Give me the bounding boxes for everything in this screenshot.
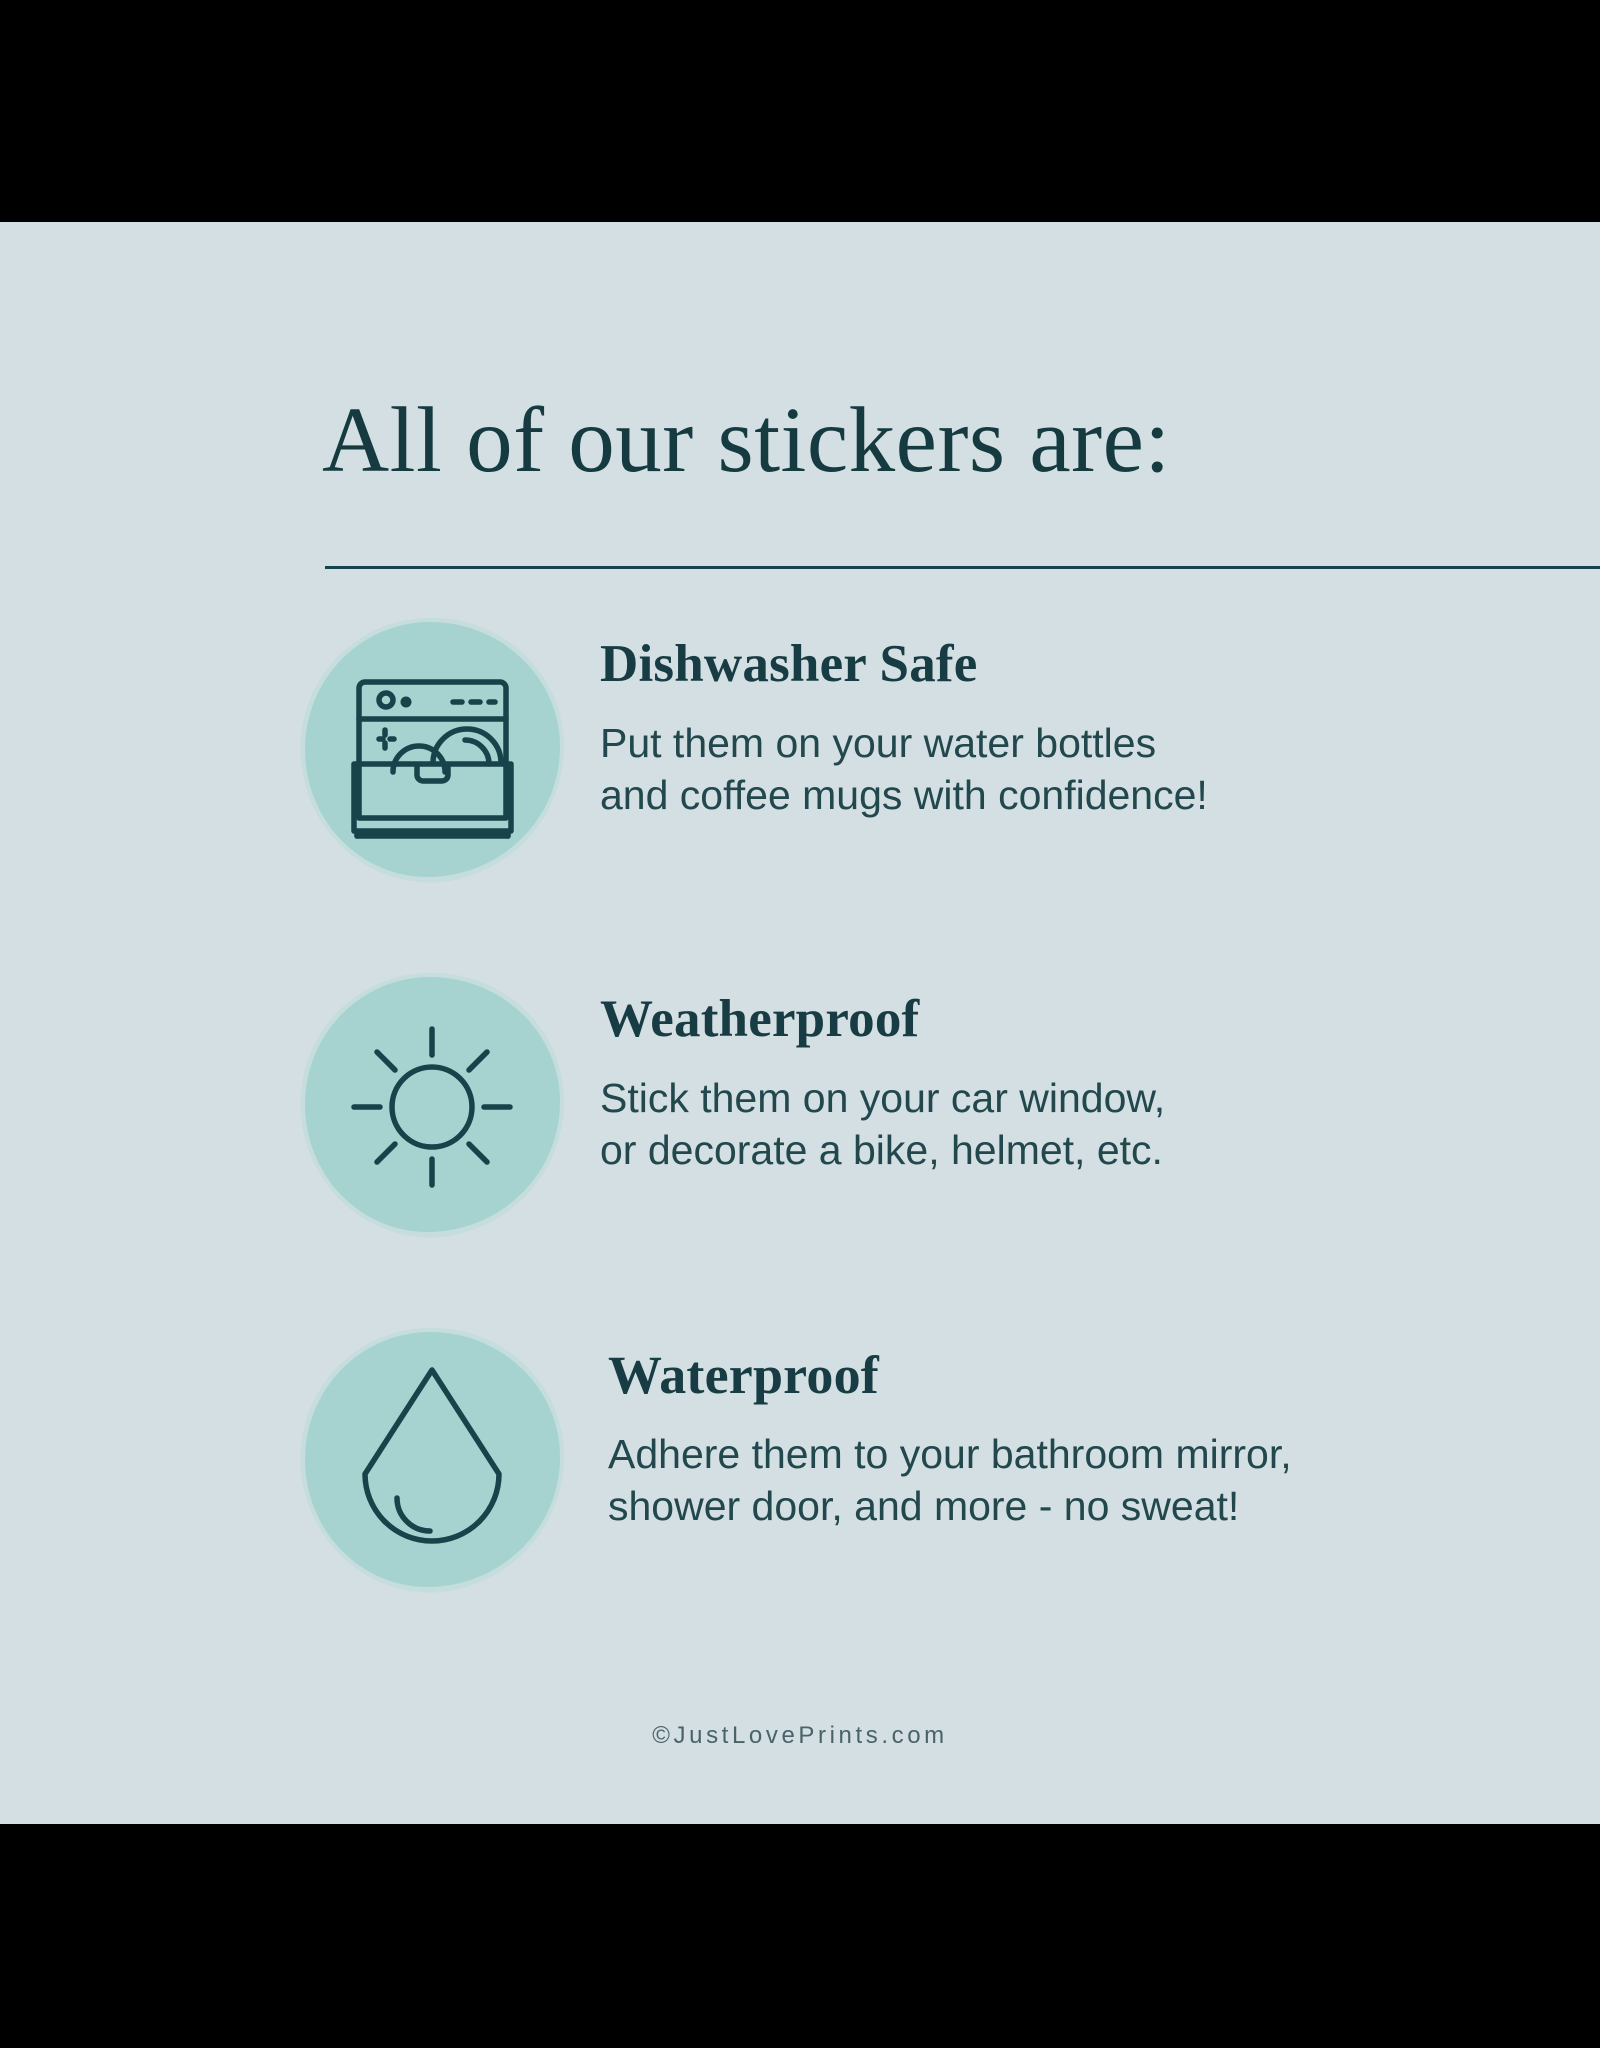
feature-description-weatherproof: Stick them on your car window, or decora… xyxy=(600,1072,1560,1177)
description-line: Adhere them to your bathroom mirror, xyxy=(608,1428,1568,1480)
page-title: All of our stickers are: xyxy=(322,392,1171,490)
dishwasher-text-column: Dishwasher Safe Put them on your water b… xyxy=(600,622,1560,822)
feature-description-waterproof: Adhere them to your bathroom mirror, sho… xyxy=(608,1428,1568,1533)
water-drop-icon-badge xyxy=(305,1332,560,1587)
feature-row-dishwasher: Dishwasher Safe Put them on your water b… xyxy=(0,622,1600,882)
waterproof-text-column: Waterproof Adhere them to your bathroom … xyxy=(608,1332,1568,1533)
sun-icon-badge xyxy=(305,977,560,1232)
description-line: or decorate a bike, helmet, etc. xyxy=(600,1124,1560,1176)
feature-title-dishwasher: Dishwasher Safe xyxy=(600,638,1560,691)
dishwasher-icon-badge xyxy=(305,622,560,877)
footer-credit: ©JustLovePrints.com xyxy=(0,1722,1600,1750)
feature-card: All of our stickers are: xyxy=(0,222,1600,1824)
letterbox-top xyxy=(0,0,1600,222)
dishwasher-icon xyxy=(305,622,560,877)
description-line: Put them on your water bottles xyxy=(600,717,1560,769)
description-line: Stick them on your car window, xyxy=(600,1072,1560,1124)
feature-row-weatherproof: Weatherproof Stick them on your car wind… xyxy=(0,977,1600,1237)
title-divider xyxy=(325,566,1600,569)
description-line: and coffee mugs with confidence! xyxy=(600,769,1560,821)
feature-row-waterproof: Waterproof Adhere them to your bathroom … xyxy=(0,1332,1600,1592)
feature-description-dishwasher: Put them on your water bottles and coffe… xyxy=(600,717,1560,822)
letterbox-bottom xyxy=(0,1824,1600,2048)
weatherproof-text-column: Weatherproof Stick them on your car wind… xyxy=(600,977,1560,1177)
feature-title-weatherproof: Weatherproof xyxy=(600,993,1560,1046)
description-line: shower door, and more - no sweat! xyxy=(608,1480,1568,1532)
screenshot-stage: All of our stickers are: xyxy=(0,0,1600,2048)
water-drop-icon xyxy=(305,1332,560,1587)
sun-icon xyxy=(305,977,560,1232)
feature-title-waterproof: Waterproof xyxy=(608,1348,1568,1402)
